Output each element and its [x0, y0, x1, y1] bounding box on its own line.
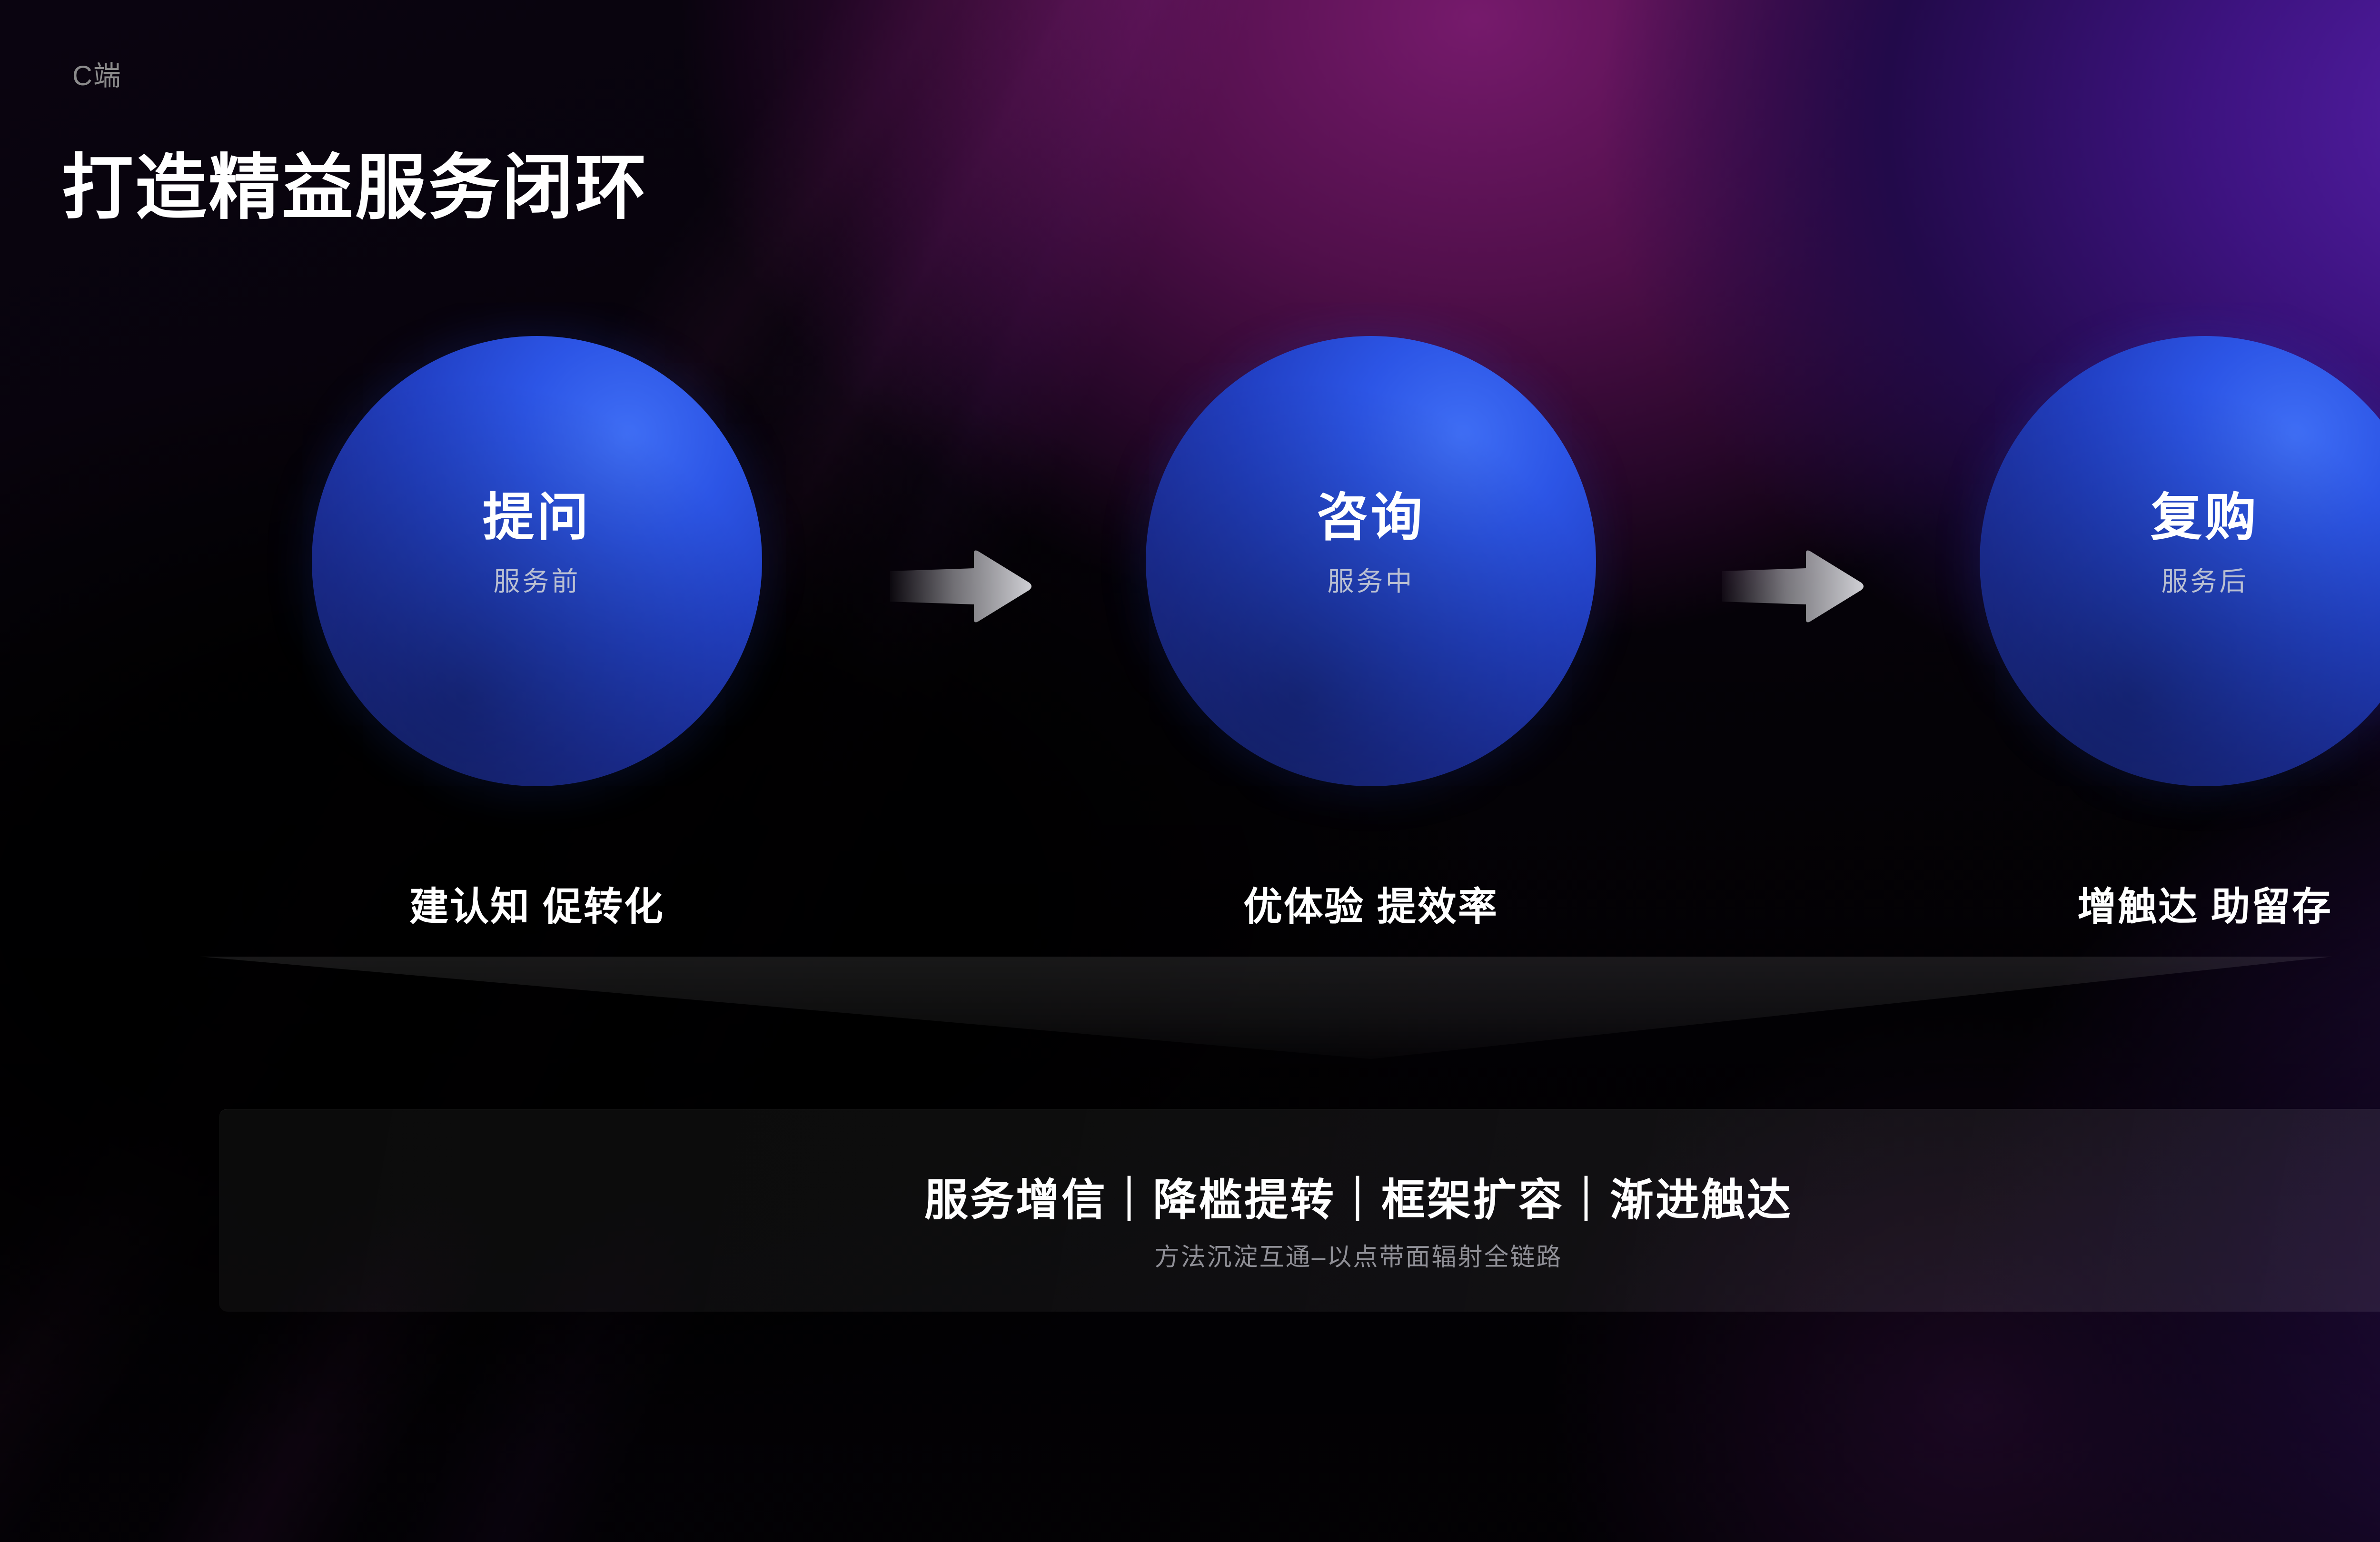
- arrow-right-icon-2: [1722, 548, 1865, 624]
- summary-subtitle: 方法沉淀互通–以点带面辐射全链路: [219, 1237, 2380, 1273]
- flow-node-3[interactable]: 复购 服务后: [1980, 336, 2380, 786]
- flow-node-1-text: 提问 服务前: [312, 489, 762, 599]
- slide-canvas: C端 打造精益服务闭环 提问 服务前 建认知 促转化: [0, 0, 2380, 1542]
- summary-headline: 服务增信｜降槛提转｜框架扩容｜渐进触达: [219, 1165, 2380, 1228]
- flow-node-1[interactable]: 提问 服务前: [312, 336, 762, 786]
- flow-node-1-subtitle: 服务前: [312, 560, 762, 599]
- flow-node-3-title: 复购: [1980, 489, 2380, 546]
- flow-node-2-caption: 优体验 提效率: [1146, 875, 1596, 931]
- flow-node-2[interactable]: 咨询 服务中: [1146, 336, 1596, 786]
- flow-node-3-text: 复购 服务后: [1980, 489, 2380, 599]
- flow-node-2-title: 咨询: [1146, 489, 1596, 546]
- flow-node-2-text: 咨询 服务中: [1146, 489, 1596, 599]
- flow-node-3-subtitle: 服务后: [1980, 560, 2380, 599]
- flow-node-3-caption: 增触达 助留存: [1980, 875, 2380, 931]
- flow-node-1-caption: 建认知 促转化: [312, 875, 762, 931]
- summary-panel: 服务增信｜降槛提转｜框架扩容｜渐进触达 方法沉淀互通–以点带面辐射全链路: [219, 1109, 2380, 1312]
- flow-node-1-title: 提问: [312, 489, 762, 546]
- flow-node-2-subtitle: 服务中: [1146, 560, 1596, 599]
- arrow-right-icon-1: [890, 548, 1033, 624]
